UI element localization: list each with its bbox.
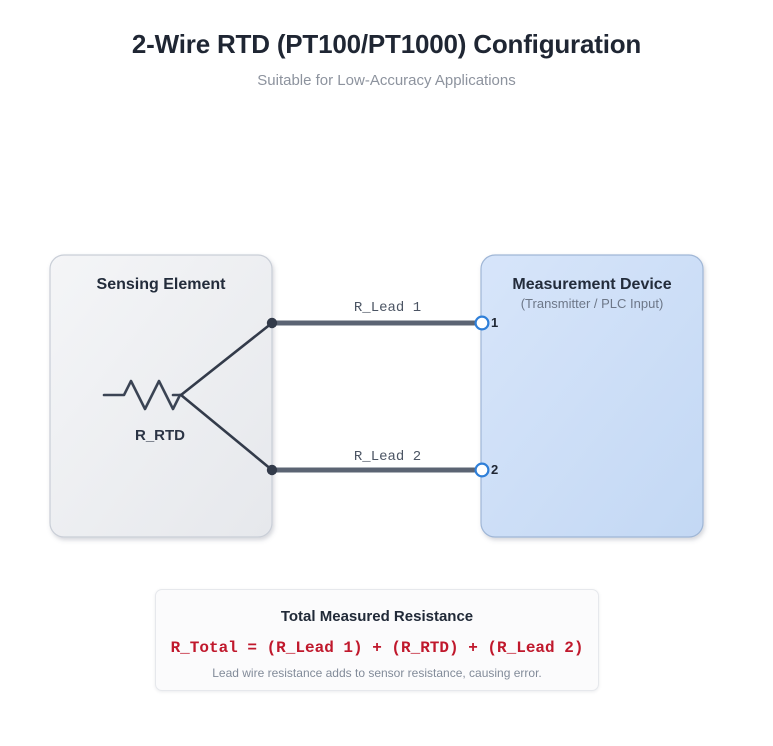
measurement-device-box bbox=[481, 255, 703, 537]
formula-expression: R_Total = (R_Lead 1) + (R_RTD) + (R_Lead… bbox=[156, 625, 598, 657]
junction-dot-1 bbox=[267, 318, 277, 328]
lead-wire-1-label: R_Lead 1 bbox=[285, 300, 490, 316]
total-resistance-panel: Total Measured Resistance R_Total = (R_L… bbox=[155, 589, 599, 691]
junction-dot-2 bbox=[267, 465, 277, 475]
terminal-ring-2[interactable] bbox=[476, 464, 489, 477]
lead-wire-2-label: R_Lead 2 bbox=[285, 449, 490, 465]
sensing-element-box bbox=[50, 255, 272, 537]
terminal-number-2: 2 bbox=[491, 462, 498, 477]
formula-note: Lead wire resistance adds to sensor resi… bbox=[156, 657, 598, 680]
rtd-component-label: R_RTD bbox=[95, 427, 225, 444]
terminal-ring-1[interactable] bbox=[476, 317, 489, 330]
terminal-number-1: 1 bbox=[491, 315, 498, 330]
formula-heading: Total Measured Resistance bbox=[156, 590, 598, 625]
